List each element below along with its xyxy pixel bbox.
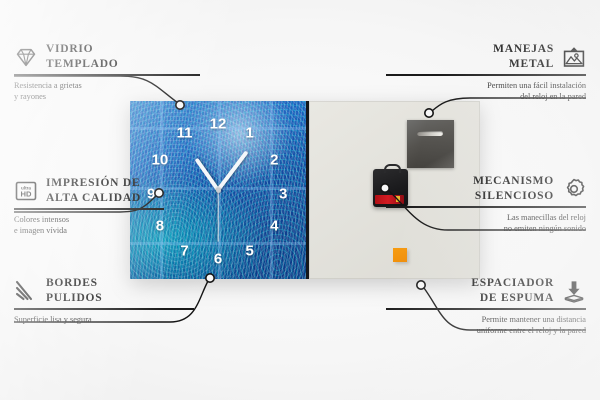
- clock-hub: [216, 188, 221, 193]
- clock-numeral: 3: [279, 186, 287, 201]
- feature-title: VIDRIO TEMPLADO: [46, 42, 118, 71]
- feature-impresion-alta-calidad: ultra HD IMPRESIÓN DE ALTA CALIDAD Color…: [14, 176, 214, 237]
- feature-divider: [386, 206, 586, 208]
- feature-mecanismo-silencioso: MECANISMO SILENCIOSO Las manecillas del …: [386, 174, 586, 235]
- clock-numeral: 5: [246, 243, 254, 258]
- clock-second-hand: [217, 190, 218, 242]
- picture-frame-icon: [562, 45, 586, 69]
- feature-manejas-metal: MANEJAS METAL Permiten una fácil instala…: [386, 42, 586, 103]
- feature-espaciador-espuma: ESPACIADOR DE ESPUMA Permite mantener un…: [386, 276, 586, 337]
- feature-description: Permite mantener una distancia uniforme …: [386, 314, 586, 337]
- clock-numeral: 2: [270, 152, 278, 167]
- clock-numeral: 11: [177, 126, 193, 141]
- feature-vidrio-templado: VIDRIO TEMPLADO Resistencia a grietas y …: [14, 42, 214, 103]
- infographic-canvas: 12 1 2 3 4 5 6 7 8 9 10 11: [0, 0, 600, 400]
- feature-divider: [386, 308, 586, 310]
- svg-text:HD: HD: [21, 189, 32, 198]
- gear-icon: [562, 177, 586, 201]
- metal-hanger: [407, 120, 454, 168]
- mechanism-loop: [384, 164, 401, 173]
- feature-title: ESPACIADOR DE ESPUMA: [471, 276, 554, 305]
- feature-divider: [14, 74, 200, 76]
- hanger-slot: [417, 131, 443, 136]
- feature-description: Resistencia a grietas y rayones: [14, 80, 214, 103]
- clock-numeral: 12: [210, 117, 227, 132]
- feature-divider: [14, 208, 164, 210]
- feature-description: Superficie lisa y segura: [14, 314, 214, 325]
- foam-spacer-icon: [562, 279, 586, 303]
- feature-divider: [386, 74, 586, 76]
- clock-numeral: 4: [270, 218, 278, 233]
- feature-title: MECANISMO SILENCIOSO: [473, 174, 554, 203]
- feature-bordes-pulidos: BORDES PULIDOS Superficie lisa y segura: [14, 276, 214, 325]
- feature-description: Las manecillas del reloj no emiten ningú…: [386, 212, 586, 235]
- feature-title: IMPRESIÓN DE ALTA CALIDAD: [46, 176, 141, 205]
- feature-description: Permiten una fácil instalación del reloj…: [386, 80, 586, 103]
- foam-spacer: [393, 248, 407, 262]
- clock-numeral: 7: [180, 243, 188, 258]
- clock-numeral: 6: [214, 252, 222, 267]
- diamond-icon: [14, 45, 38, 69]
- feature-title: MANEJAS METAL: [493, 42, 554, 71]
- polished-edges-icon: [14, 279, 38, 303]
- feature-divider: [14, 308, 194, 310]
- feature-title: BORDES PULIDOS: [46, 276, 102, 305]
- clock-numeral: 1: [246, 126, 254, 141]
- ultra-hd-icon: ultra HD: [14, 179, 38, 203]
- feature-description: Colores intensos e imagen vívida: [14, 214, 214, 237]
- clock-numeral: 10: [152, 152, 169, 167]
